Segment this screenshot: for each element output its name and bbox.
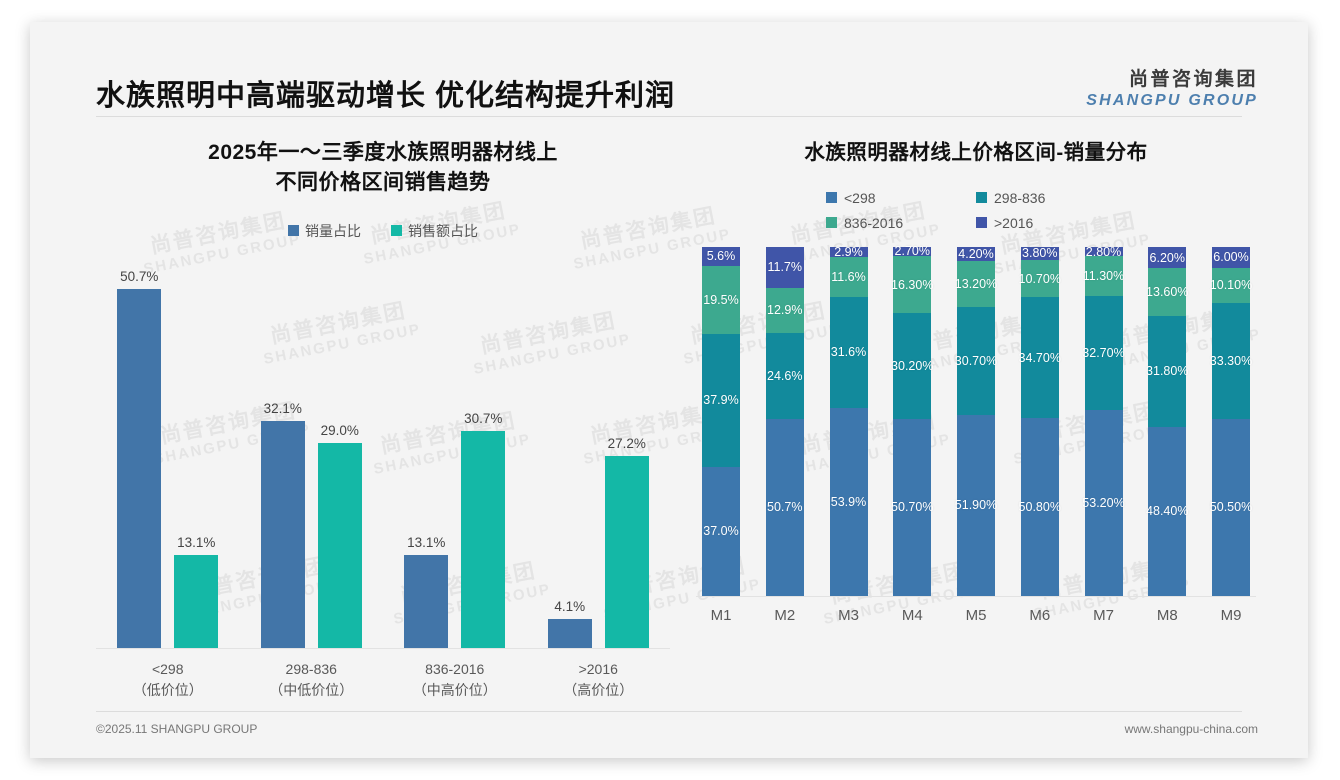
x-tick-label: 298-836（中低价位） (240, 659, 384, 701)
x-tick-sublabel: （低价位） (96, 680, 240, 701)
segment-value-label: 50.70% (891, 500, 933, 514)
left-chart-title: 2025年一～三季度水族照明器材线上 不同价格区间销售趋势 (96, 138, 670, 199)
legend-label: 836-2016 (844, 215, 903, 231)
legend-item-2[interactable]: 销售额占比 (391, 221, 478, 241)
stacked-bar[interactable]: 6.20%13.60%31.80%48.40% (1148, 247, 1186, 596)
slide-header: 水族照明中高端驱动增长 优化结构提升利润 尚普咨询集团 SHANGPU GROU… (30, 22, 1308, 116)
bar-amount[interactable]: 27.2% (605, 456, 649, 648)
segment-value-label: 37.9% (703, 393, 738, 407)
segment-value-label: 50.50% (1210, 500, 1252, 514)
bar-group: 13.1%30.7% (383, 259, 527, 648)
stacked-bar[interactable]: 3.80%10.70%34.70%50.80% (1021, 247, 1059, 596)
stack-segment[interactable]: 6.20% (1148, 247, 1186, 269)
legend-label: 销量占比 (305, 221, 361, 241)
left-chart-legend: 销量占比销售额占比 (96, 221, 670, 241)
legend-item-4[interactable]: >2016 (976, 215, 1126, 231)
stacked-bar[interactable]: 2.80%11.30%32.70%53.20% (1085, 247, 1123, 596)
x-tick-label: M5 (957, 607, 995, 624)
segment-value-label: 11.30% (1083, 269, 1124, 283)
segment-value-label: 4.20% (958, 247, 993, 261)
header-divider (96, 116, 1242, 117)
right-chart-plot-area: 5.6%19.5%37.9%37.0%11.7%12.9%24.6%50.7%2… (696, 247, 1256, 597)
segment-value-label: 24.6% (767, 369, 802, 383)
stack-segment[interactable]: 11.7% (766, 247, 804, 288)
bar-amount[interactable]: 13.1% (174, 555, 218, 648)
x-tick-sublabel: （高价位） (527, 680, 671, 701)
bar-value-label: 29.0% (321, 423, 359, 438)
x-tick-label: M3 (830, 607, 868, 624)
stack-segment[interactable]: 50.70% (893, 419, 931, 596)
stack-segment[interactable]: 33.30% (1212, 303, 1250, 419)
bar-volume[interactable]: 32.1% (261, 421, 305, 648)
stack-segment[interactable]: 3.80% (1021, 247, 1059, 260)
left-chart-title-line1: 2025年一～三季度水族照明器材线上 (96, 138, 670, 168)
logo-text-cn: 尚普咨询集团 (1086, 64, 1258, 91)
stacked-bar[interactable]: 2.9%11.6%31.6%53.9% (830, 247, 868, 596)
legend-item-1[interactable]: 销量占比 (288, 221, 361, 241)
segment-value-label: 13.20% (955, 277, 997, 291)
legend-swatch-icon (391, 225, 402, 236)
stack-segment[interactable]: 24.6% (766, 333, 804, 419)
stack-segment[interactable]: 48.40% (1148, 427, 1186, 596)
stack-segment[interactable]: 12.9% (766, 288, 804, 333)
segment-value-label: 53.20% (1082, 496, 1124, 510)
stacked-bar[interactable]: 6.00%10.10%33.30%50.50% (1212, 247, 1250, 596)
legend-item-2[interactable]: 298-836 (976, 190, 1126, 206)
segment-value-label: 30.20% (891, 359, 933, 373)
right-chart-legend: <298298-836836-2016>2016 (826, 190, 1126, 231)
segment-value-label: 10.70% (1019, 272, 1061, 286)
stack-segment[interactable]: 4.20% (957, 247, 995, 262)
logo-text-en: SHANGPU GROUP (1086, 92, 1258, 110)
bar-value-label: 13.1% (177, 535, 215, 550)
legend-label: 298-836 (994, 190, 1045, 206)
bar-volume[interactable]: 50.7% (117, 289, 161, 648)
bar-group: 32.1%29.0% (240, 259, 384, 648)
left-chart-title-line2: 不同价格区间销售趋势 (96, 168, 670, 198)
stack-segment[interactable]: 34.70% (1021, 297, 1059, 418)
stack-segment[interactable]: 31.80% (1148, 316, 1186, 427)
legend-label: <298 (844, 190, 876, 206)
x-tick-label: 836-2016（中高价位） (383, 659, 527, 701)
bar-group: 4.1%27.2% (527, 259, 671, 648)
x-tick-label: M6 (1021, 607, 1059, 624)
bar-value-label: 27.2% (608, 436, 646, 451)
stacked-bar[interactable]: 4.20%13.20%30.70%51.90% (957, 247, 995, 596)
brand-logo: 尚普咨询集团 SHANGPU GROUP (1086, 64, 1258, 110)
stack-segment[interactable]: 2.80% (1085, 247, 1123, 257)
segment-value-label: 50.80% (1019, 500, 1061, 514)
x-tick-sublabel: （中低价位） (240, 680, 384, 701)
stack-segment[interactable]: 16.30% (893, 256, 931, 313)
stacked-bar[interactable]: 5.6%19.5%37.9%37.0% (702, 247, 740, 596)
segment-value-label: 30.70% (955, 354, 997, 368)
segment-value-label: 32.70% (1082, 346, 1124, 360)
bar-value-label: 30.7% (464, 411, 502, 426)
x-tick-label: M4 (893, 607, 931, 624)
legend-label: 销售额占比 (408, 221, 478, 241)
segment-value-label: 31.6% (831, 345, 866, 359)
stack-segment[interactable]: 30.20% (893, 313, 931, 419)
x-tick-range: 836-2016 (383, 659, 527, 680)
stack-segment[interactable]: 10.70% (1021, 260, 1059, 297)
stack-segment[interactable]: 51.90% (957, 415, 995, 596)
segment-value-label: 3.80% (1022, 246, 1057, 260)
stack-segment[interactable]: 6.00% (1212, 247, 1250, 268)
right-chart-panel: 水族照明器材线上价格区间-销量分布 <298298-836836-2016>20… (696, 138, 1256, 704)
stack-segment[interactable]: 53.9% (830, 408, 868, 596)
stack-segment[interactable]: 37.9% (702, 334, 740, 466)
segment-value-label: 51.90% (955, 498, 997, 512)
bar-value-label: 4.1% (554, 599, 585, 614)
bar-amount[interactable]: 30.7% (461, 431, 505, 648)
bar-value-label: 13.1% (407, 535, 445, 550)
stack-segment[interactable]: 53.20% (1085, 410, 1123, 596)
slide-canvas: 尚普咨询集团SHANGPU GROUP尚普咨询集团SHANGPU GROUP尚普… (30, 22, 1308, 758)
stack-segment[interactable]: 50.7% (766, 419, 804, 596)
segment-value-label: 16.30% (891, 278, 933, 292)
bar-volume[interactable]: 4.1% (548, 619, 592, 648)
segment-value-label: 33.30% (1210, 354, 1252, 368)
stack-segment[interactable]: 10.10% (1212, 268, 1250, 303)
footer-divider (96, 711, 1242, 712)
footer-copyright: ©2025.11 SHANGPU GROUP (96, 722, 257, 736)
x-tick-range: <298 (96, 659, 240, 680)
stack-segment[interactable]: 5.6% (702, 247, 740, 267)
x-tick-label: M1 (702, 607, 740, 624)
legend-swatch-icon (288, 225, 299, 236)
segment-value-label: 13.60% (1146, 285, 1188, 299)
x-tick-label: <298（低价位） (96, 659, 240, 701)
right-chart-x-axis: M1M2M3M4M5M6M7M8M9 (696, 607, 1256, 624)
segment-value-label: 10.10% (1210, 278, 1252, 292)
legend-swatch-icon (826, 217, 837, 228)
segment-value-label: 48.40% (1146, 504, 1188, 518)
bar-group: 50.7%13.1% (96, 259, 240, 648)
segment-value-label: 19.5% (703, 293, 738, 307)
stack-segment[interactable]: 11.30% (1085, 256, 1123, 295)
stack-segment[interactable]: 30.70% (957, 307, 995, 414)
legend-swatch-icon (976, 192, 987, 203)
segment-value-label: 50.7% (767, 500, 802, 514)
x-tick-sublabel: （中高价位） (383, 680, 527, 701)
x-tick-label: M8 (1148, 607, 1186, 624)
left-chart-x-axis: <298（低价位）298-836（中低价位）836-2016（中高价位）>201… (96, 659, 670, 701)
x-tick-range: >2016 (527, 659, 671, 680)
legend-label: >2016 (994, 215, 1033, 231)
segment-value-label: 6.00% (1213, 250, 1248, 264)
segment-value-label: 5.6% (707, 249, 736, 263)
segment-value-label: 6.20% (1150, 251, 1185, 265)
segment-value-label: 53.9% (831, 495, 866, 509)
stacked-bar[interactable]: 2.70%16.30%30.20%50.70% (893, 247, 931, 596)
x-tick-label: M2 (766, 607, 804, 624)
segment-value-label: 12.9% (767, 303, 802, 317)
footer-website: www.shangpu-china.com (1125, 722, 1258, 736)
segment-value-label: 11.6% (831, 270, 866, 284)
right-chart-title: 水族照明器材线上价格区间-销量分布 (696, 138, 1256, 168)
stack-segment[interactable]: 50.50% (1212, 419, 1250, 595)
bar-amount[interactable]: 29.0% (318, 443, 362, 648)
stack-segment[interactable]: 37.0% (702, 467, 740, 596)
legend-swatch-icon (976, 217, 987, 228)
segment-value-label: 34.70% (1019, 351, 1061, 365)
stack-segment[interactable]: 2.70% (893, 247, 931, 256)
bar-value-label: 50.7% (120, 269, 158, 284)
segment-value-label: 31.80% (1146, 364, 1188, 378)
bar-value-label: 32.1% (264, 401, 302, 416)
legend-item-1[interactable]: <298 (826, 190, 976, 206)
stack-segment[interactable]: 19.5% (702, 266, 740, 334)
stack-segment[interactable]: 13.60% (1148, 268, 1186, 315)
stack-segment[interactable]: 50.80% (1021, 418, 1059, 595)
x-tick-label: M9 (1212, 607, 1250, 624)
page-title: 水族照明中高端驱动增长 优化结构提升利润 (96, 72, 675, 114)
left-chart-plot-area: 50.7%13.1%32.1%29.0%13.1%30.7%4.1%27.2% (96, 259, 670, 649)
stack-segment[interactable]: 2.9% (830, 247, 868, 257)
x-tick-label: >2016（高价位） (527, 659, 671, 701)
legend-swatch-icon (826, 192, 837, 203)
stack-segment[interactable]: 32.70% (1085, 296, 1123, 410)
stacked-bar[interactable]: 11.7%12.9%24.6%50.7% (766, 247, 804, 596)
segment-value-label: 11.7% (767, 260, 802, 274)
segment-value-label: 37.0% (703, 524, 738, 538)
x-tick-range: 298-836 (240, 659, 384, 680)
stack-segment[interactable]: 11.6% (830, 257, 868, 297)
bar-volume[interactable]: 13.1% (404, 555, 448, 648)
x-tick-label: M7 (1085, 607, 1123, 624)
left-chart-panel: 2025年一～三季度水族照明器材线上 不同价格区间销售趋势 销量占比销售额占比 … (96, 138, 670, 704)
stack-segment[interactable]: 13.20% (957, 261, 995, 307)
legend-item-3[interactable]: 836-2016 (826, 215, 976, 231)
stack-segment[interactable]: 31.6% (830, 297, 868, 407)
